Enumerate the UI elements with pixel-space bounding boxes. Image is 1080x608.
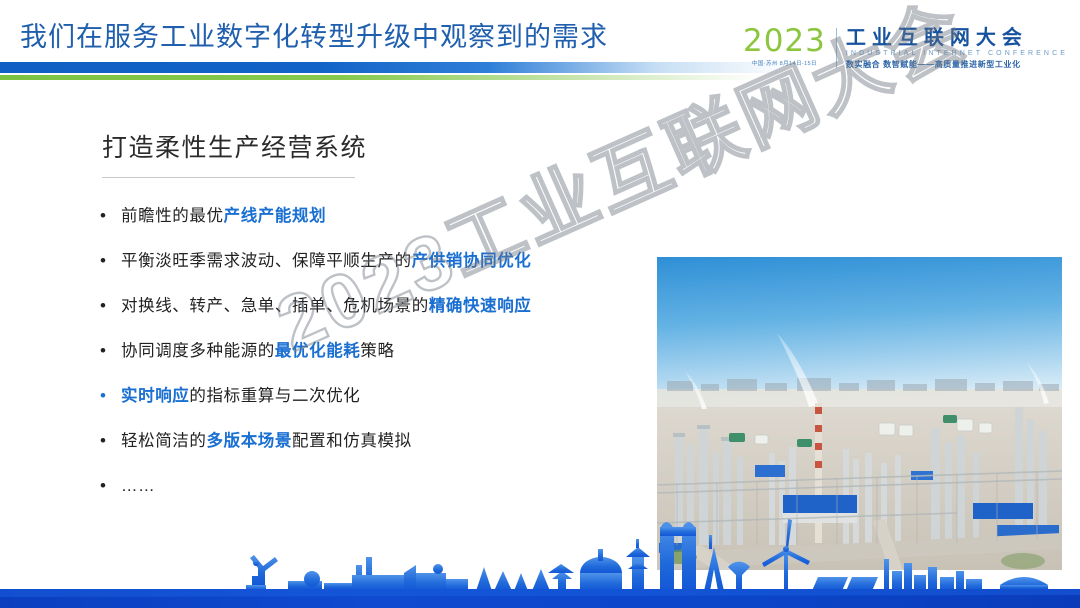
bullet-highlight: 产供销协同优化: [412, 252, 532, 270]
bullet-text: 前瞻性的最优产线产能规划: [121, 204, 615, 228]
slide-header: 我们在服务工业数字化转型升级中观察到的需求 2023 中国·苏州 8月14日-1…: [0, 0, 1080, 100]
bullet-plain: 轻松简洁的: [121, 432, 207, 450]
bullet-plain: ……: [121, 477, 155, 495]
bullet-plain: 的指标重算与二次优化: [189, 387, 360, 405]
bullet-highlight: 精确快速响应: [429, 297, 532, 315]
bullet-item: •前瞻性的最优产线产能规划: [95, 204, 615, 228]
bullet-text: ……: [121, 474, 615, 498]
bullet-text: 对换线、转产、急单、插单、危机场景的精确快速响应: [121, 294, 615, 318]
bullet-highlight: 实时响应: [121, 387, 189, 405]
bullet-item: •轻松简洁的多版本场景配置和仿真模拟: [95, 429, 615, 453]
bullet-item: •实时响应的指标重算与二次优化: [95, 384, 615, 408]
bullet-dot-icon: •: [95, 384, 121, 408]
logo-name-cn: 工业互联网大会: [846, 27, 1068, 49]
bullet-item: •对换线、转产、急单、插单、危机场景的精确快速响应: [95, 294, 615, 318]
bullet-dot-icon: •: [95, 429, 121, 453]
bullet-dot-icon: •: [95, 204, 121, 228]
logo-divider: [836, 28, 837, 68]
logo-name-en: INDUSTRIAL INTERNET CONFERENCE: [846, 49, 1068, 59]
bullet-highlight: 多版本场景: [207, 432, 293, 450]
bullet-plain: 协同调度多种能源的: [121, 342, 275, 360]
slide-body: 打造柔性生产经营系统 •前瞻性的最优产线产能规划•平衡淡旺季需求波动、保障平顺生…: [0, 100, 1080, 520]
logo-slogan: 数实融合 数智赋能——高质量推进新型工业化: [846, 59, 1068, 70]
bullet-list: •前瞻性的最优产线产能规划•平衡淡旺季需求波动、保障平顺生产的产供销协同优化•对…: [95, 204, 615, 519]
bullet-text: 协同调度多种能源的最优化能耗策略: [121, 339, 615, 363]
logo-name-block: 工业互联网大会 INDUSTRIAL INTERNET CONFERENCE 数…: [846, 26, 1068, 70]
bullet-plain: 前瞻性的最优: [121, 207, 224, 225]
page-title: 我们在服务工业数字化转型升级中观察到的需求: [20, 20, 608, 54]
bullet-item: •……: [95, 474, 615, 498]
header-rule-green: [0, 75, 760, 80]
bullet-dot-icon: •: [95, 339, 121, 363]
bullet-dot-icon: •: [95, 474, 121, 498]
bullet-plain: 对换线、转产、急单、插单、危机场景的: [121, 297, 429, 315]
heading-underline: [102, 177, 355, 178]
slide-canvas: 我们在服务工业数字化转型升级中观察到的需求 2023 中国·苏州 8月14日-1…: [0, 0, 1080, 608]
conference-logo: 2023 中国·苏州 8月14日-15日 工业互联网大会 INDUSTRIAL …: [743, 26, 1068, 70]
bullet-dot-icon: •: [95, 294, 121, 318]
logo-year: 2023: [743, 26, 826, 57]
bullet-item: •协同调度多种能源的最优化能耗策略: [95, 339, 615, 363]
header-rule-blue: [0, 62, 790, 73]
section-heading: 打造柔性生产经营系统: [102, 132, 367, 164]
logo-date-location: 中国·苏州 8月14日-15日: [743, 61, 826, 68]
bullet-text: 轻松简洁的多版本场景配置和仿真模拟: [121, 429, 615, 453]
bullet-plain: 配置和仿真模拟: [292, 432, 412, 450]
logo-year-block: 2023 中国·苏州 8月14日-15日: [743, 26, 836, 68]
bullet-item: •平衡淡旺季需求波动、保障平顺生产的产供销协同优化: [95, 249, 615, 273]
slide-footer: [0, 513, 1080, 608]
bullet-plain: 平衡淡旺季需求波动、保障平顺生产的: [121, 252, 412, 270]
bullet-dot-icon: •: [95, 249, 121, 273]
bullet-highlight: 最优化能耗: [275, 342, 361, 360]
bullet-plain: 策略: [360, 342, 394, 360]
bullet-text: 平衡淡旺季需求波动、保障平顺生产的产供销协同优化: [121, 249, 615, 273]
bullet-text: 实时响应的指标重算与二次优化: [121, 384, 615, 408]
bullet-highlight: 产线产能规划: [224, 207, 327, 225]
